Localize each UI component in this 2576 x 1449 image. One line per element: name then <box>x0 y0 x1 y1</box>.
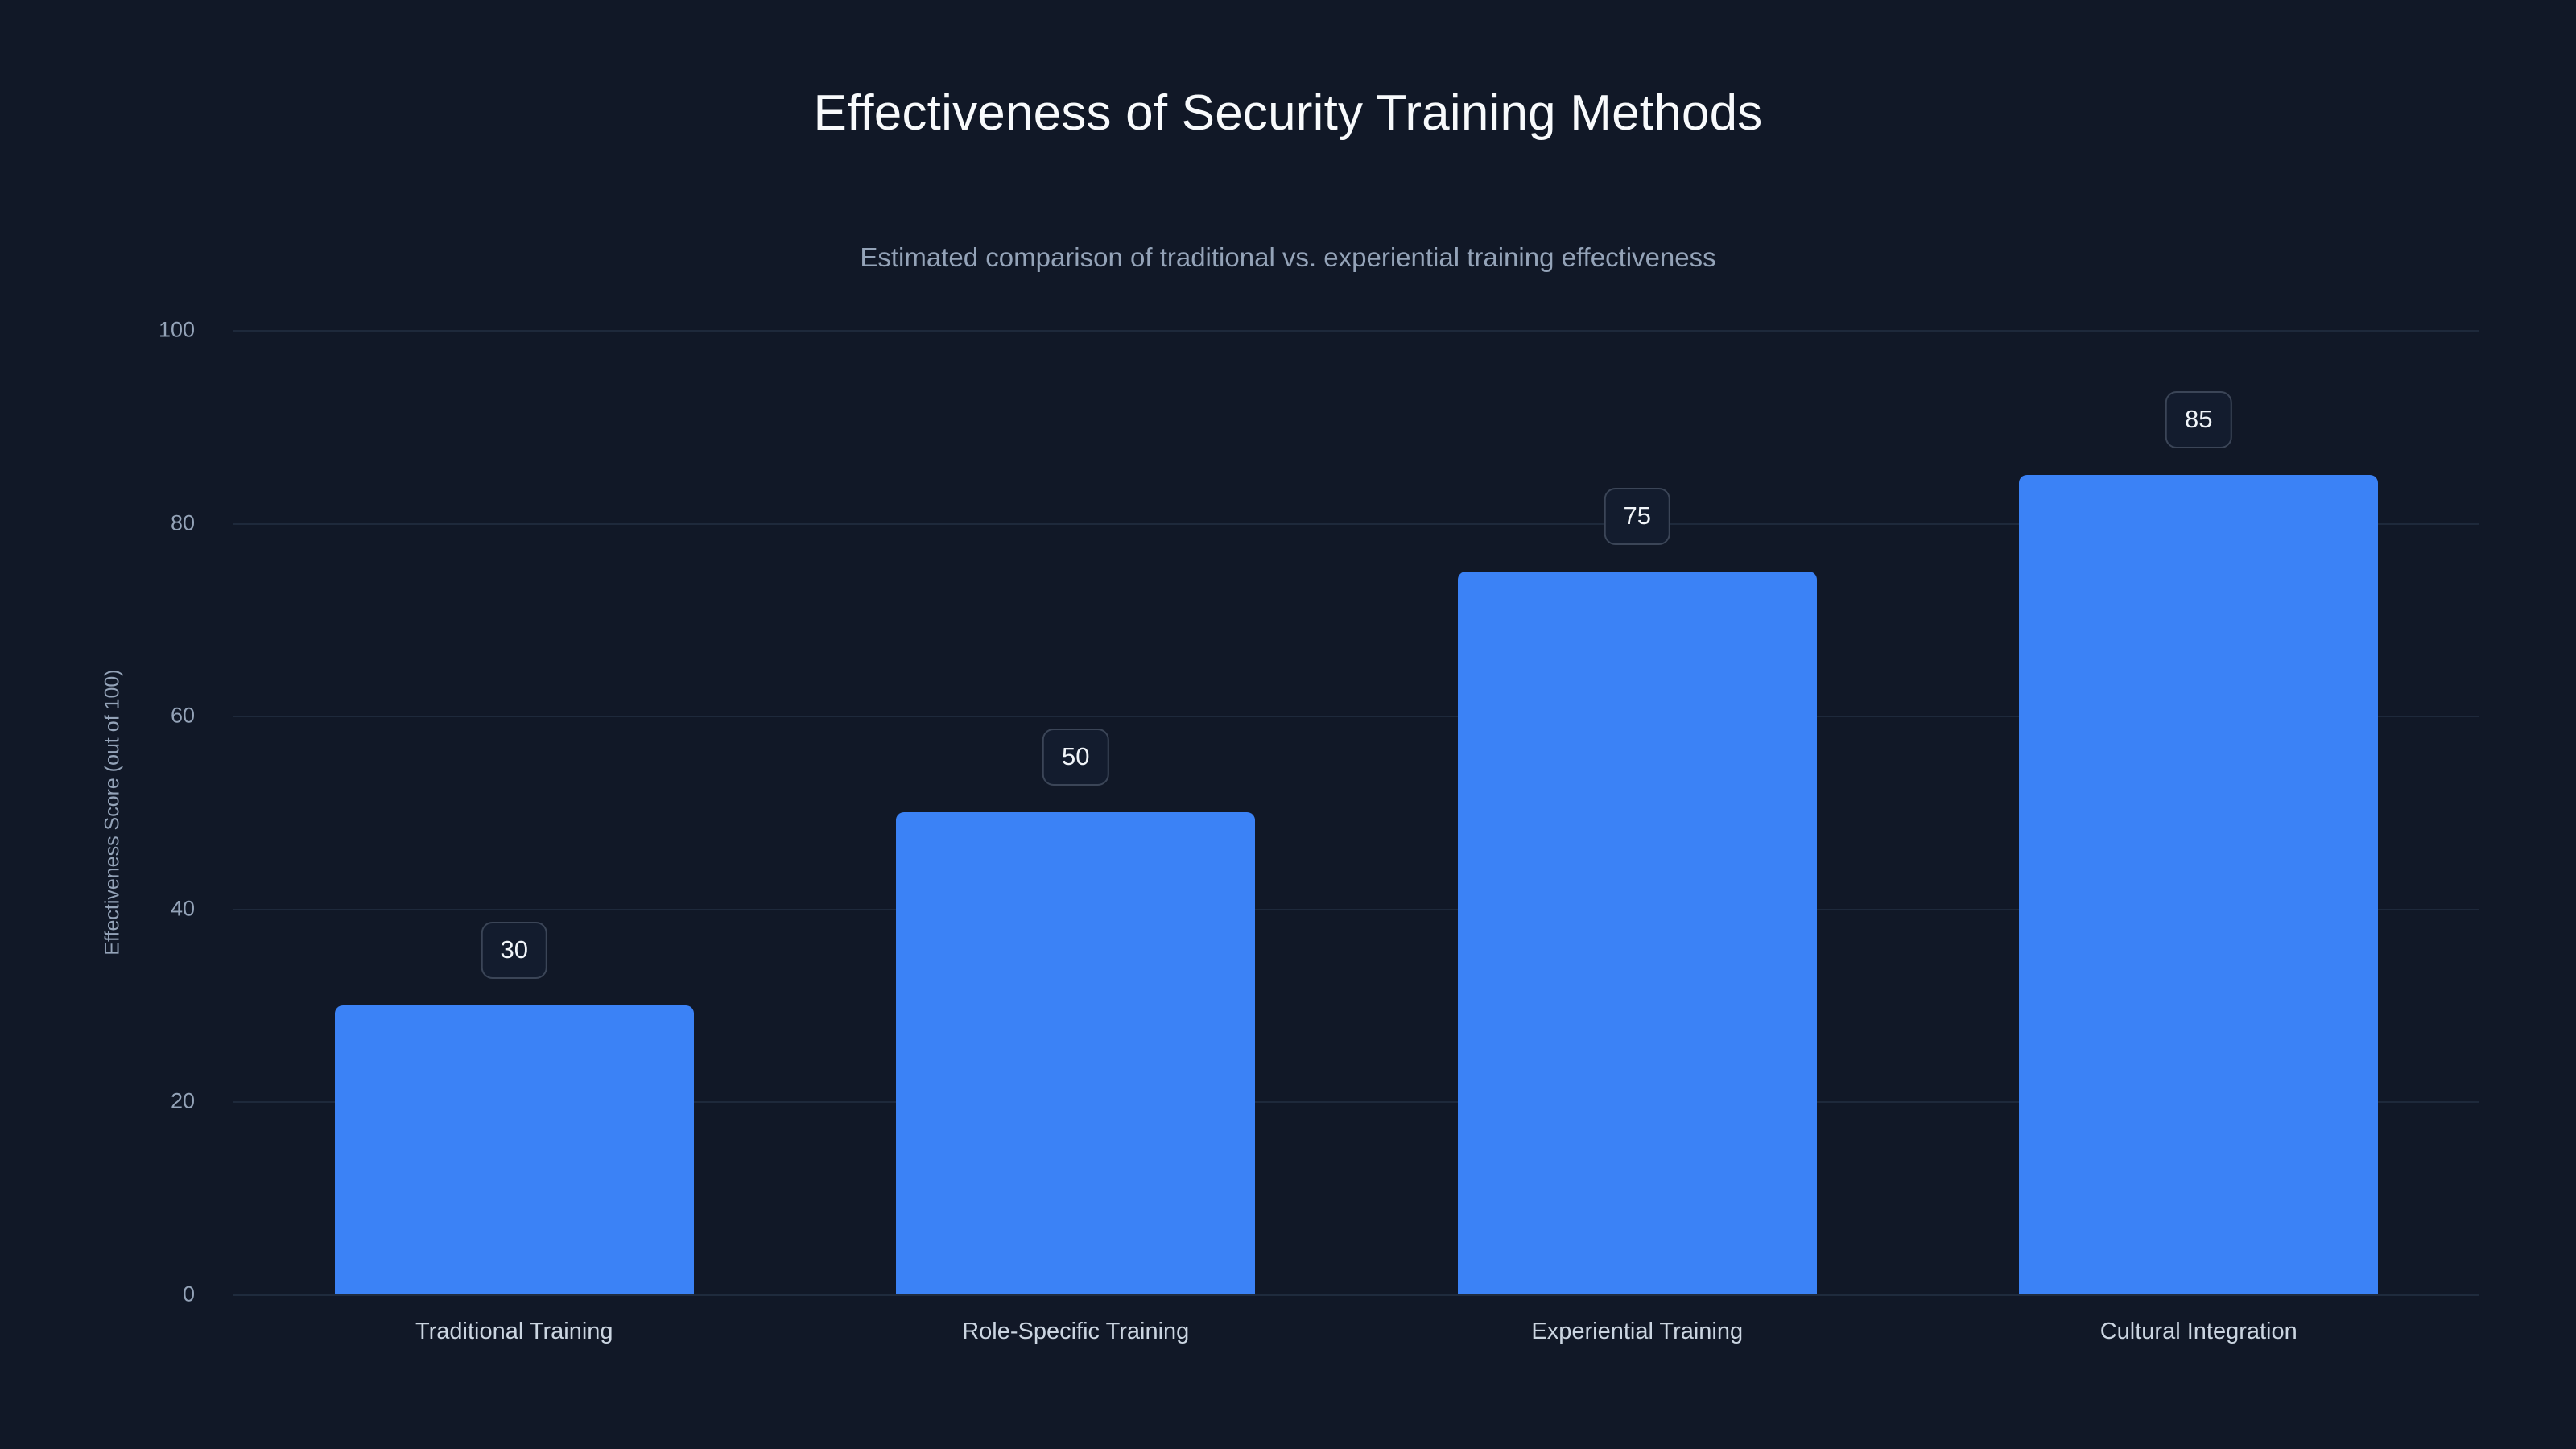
y-axis-tick-label: 60 <box>171 705 195 727</box>
bar-group: 75 <box>1458 330 1817 1294</box>
y-axis-tick-label: 40 <box>171 898 195 919</box>
x-axis-tick-label: Role-Specific Training <box>962 1320 1189 1344</box>
y-axis-tick-label: 0 <box>183 1284 195 1306</box>
x-axis-tick-label: Experiential Training <box>1531 1320 1743 1344</box>
y-axis-tick-label: 20 <box>171 1091 195 1113</box>
bar[interactable] <box>335 1005 694 1294</box>
page-title: Effectiveness of Security Training Metho… <box>0 89 2576 138</box>
bar-value-badge: 75 <box>1604 488 1670 545</box>
bar-group: 50 <box>896 330 1255 1294</box>
bar-value-badge: 50 <box>1042 729 1108 786</box>
x-axis-tick-label: Traditional Training <box>415 1320 613 1344</box>
bar-chart: Effectiveness of Security Training Metho… <box>0 0 2576 1449</box>
bars-layer: 30507585 <box>233 330 2479 1294</box>
bar-group: 30 <box>335 330 694 1294</box>
bar-value-badge: 85 <box>2165 391 2231 448</box>
bar[interactable] <box>1458 572 1817 1295</box>
bar-value-badge: 30 <box>481 922 547 979</box>
y-axis-tick-label: 100 <box>159 320 195 341</box>
gridline <box>233 1294 2479 1296</box>
y-axis-tick-labels: 020406080100 <box>0 330 209 1294</box>
chart-subtitle: Estimated comparison of traditional vs. … <box>0 244 2576 270</box>
x-axis-tick-labels: Traditional TrainingRole-Specific Traini… <box>233 1320 2479 1360</box>
bar-group: 85 <box>2019 330 2378 1294</box>
x-axis-tick-label: Cultural Integration <box>2100 1320 2297 1344</box>
bar[interactable] <box>2019 475 2378 1294</box>
bar[interactable] <box>896 812 1255 1294</box>
y-axis-tick-label: 80 <box>171 512 195 534</box>
